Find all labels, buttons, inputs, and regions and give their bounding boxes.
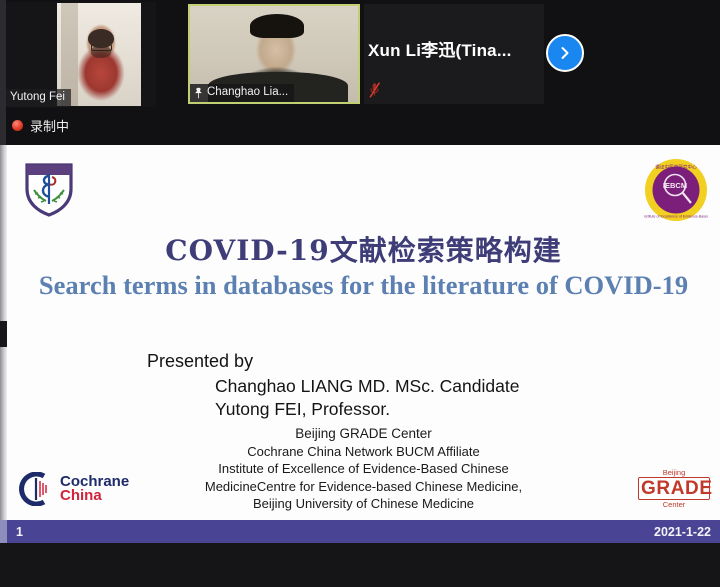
presenter-name: Yutong FEI, Professor. [215, 398, 519, 421]
participant-name-chip: Yutong Fei [6, 89, 71, 107]
grade-main-label: GRADE [638, 477, 710, 500]
slide-left-border [0, 145, 7, 520]
participant-tile-yutong-fei[interactable]: Yutong Fei [6, 2, 156, 107]
presented-by-label: Presented by [147, 351, 253, 372]
footer-left-edge [0, 520, 7, 543]
cochrane-circle-icon [19, 472, 53, 506]
grade-bottom-label: Center [638, 500, 710, 509]
presenter-list: Changhao LIANG MD. MSc. Candidate Yutong… [215, 375, 519, 421]
participant-name-chip: Changhao Lia... [190, 84, 294, 102]
svg-text:循证中医药研究中心: 循证中医药研究中心 [655, 164, 697, 171]
participant-name-label-xun-li: Xun Li李迅(Tina... [368, 36, 512, 61]
slide-title-chinese: COVID-19文献检索策略构建 [7, 229, 720, 269]
affiliation-line: Cochrane China Network BUCM Affiliate [7, 443, 720, 461]
china-label: China [60, 489, 129, 504]
shared-screen-slide-area: IEBCM 循证中医药研究中心 Institute of Excellence … [0, 145, 720, 520]
participant-tile-changhao-liang[interactable]: Changhao Lia... [188, 4, 360, 104]
bottom-letterbox [0, 543, 720, 587]
participant-name-label: Yutong Fei [10, 90, 65, 105]
slide-border-marker [0, 321, 7, 347]
slide-date: 2021-1-22 [654, 525, 711, 539]
beijing-grade-center-logo: Beijing GRADE Center [638, 468, 710, 509]
glasses-detail [91, 44, 112, 51]
microphone-muted-icon [368, 82, 381, 98]
chevron-right-icon [558, 45, 572, 61]
bucm-shield-logo [21, 160, 77, 218]
presentation-slide: IEBCM 循证中医药研究中心 Institute of Excellence … [7, 145, 720, 520]
record-dot-icon [12, 120, 23, 131]
recording-indicator[interactable]: 录制中 [12, 116, 69, 135]
iebcm-circular-logo: IEBCM 循证中医药研究中心 Institute of Excellence … [644, 158, 708, 222]
pin-icon [194, 87, 203, 99]
next-participants-page-button[interactable] [546, 34, 584, 72]
cochrane-wordmark: Cochrane China [60, 475, 129, 504]
participant-name-label: Changhao Lia... [207, 85, 288, 100]
cochrane-china-logo: Cochrane China [19, 472, 129, 506]
presenter-name: Changhao LIANG MD. MSc. Candidate [215, 375, 519, 398]
slide-number: 1 [16, 525, 23, 539]
grade-top-label: Beijing [638, 468, 710, 477]
video-filmstrip: Yutong Fei Changhao Lia... Xun Li李迅(Tina… [0, 0, 720, 145]
hair-detail [250, 14, 304, 38]
slide-footer-bar: 1 2021-1-22 [7, 520, 720, 543]
affiliation-line: Beijing GRADE Center [7, 425, 720, 443]
svg-text:Institute of Excellence of Evi: Institute of Excellence of Evidence-Base… [644, 215, 708, 219]
svg-text:IEBCM: IEBCM [663, 181, 687, 190]
slide-title-english: Search terms in databases for the litera… [7, 270, 720, 301]
recording-label: 录制中 [30, 116, 69, 135]
